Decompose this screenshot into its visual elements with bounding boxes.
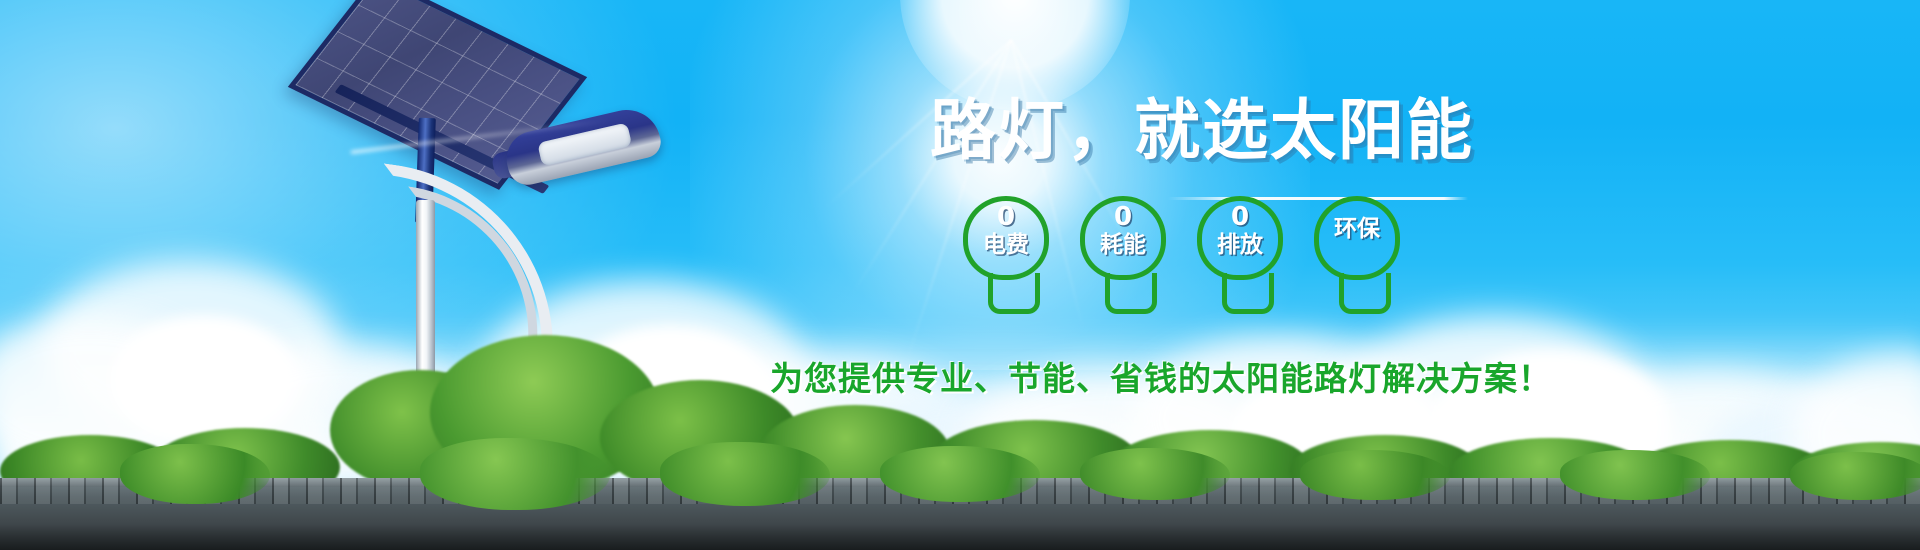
badge-value: 0 — [955, 204, 1057, 230]
ivy-clump — [660, 442, 830, 506]
badge-value: 0 — [1189, 204, 1291, 230]
page-title: 路灯，就选太阳能 — [930, 98, 1474, 164]
badge-label: 环保 — [1306, 216, 1408, 243]
ivy-clump — [1560, 450, 1710, 500]
ivy-clump — [1300, 450, 1450, 500]
feature-badge-electricity-fee: 0 电费 — [955, 196, 1057, 308]
badge-label: 电费 — [955, 232, 1057, 259]
ivy-clump — [880, 446, 1040, 502]
badge-label: 排放 — [1189, 232, 1291, 259]
wall-shadow — [0, 524, 1920, 550]
ivy-clump — [420, 438, 610, 510]
badge-value: 0 — [1072, 204, 1174, 230]
feature-badge-energy-consumption: 0 耗能 — [1072, 196, 1174, 308]
ivy-clump — [1790, 452, 1920, 500]
badge-label: 耗能 — [1072, 232, 1174, 259]
feature-badge-list: 0 电费 0 耗能 0 排放 环保 — [955, 196, 1475, 306]
ivy-clump — [1080, 448, 1230, 500]
ivy-clump — [120, 444, 270, 504]
tagline: 为您提供专业、节能、省钱的太阳能路灯解决方案！ — [770, 352, 1552, 400]
solar-streetlight-banner: 路灯，就选太阳能 0 电费 0 耗能 0 排放 环保 为您提供专业、节能、省钱的… — [0, 0, 1920, 550]
feature-badge-eco-friendly: 环保 — [1306, 196, 1408, 308]
feature-badge-emission: 0 排放 — [1189, 196, 1291, 308]
